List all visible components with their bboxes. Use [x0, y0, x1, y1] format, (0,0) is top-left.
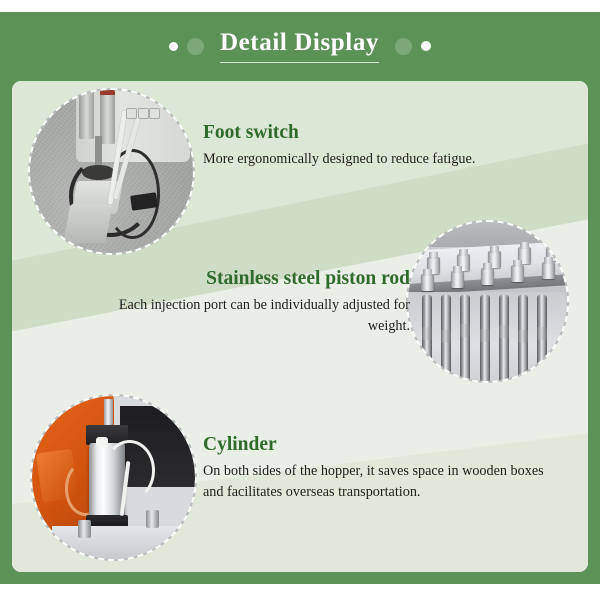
decorative-dot-right-small-icon: [421, 41, 431, 51]
cylinder-photo-inner: [32, 396, 195, 559]
piston-rod-photo-inner: [408, 222, 567, 381]
section-piston-rod-title: Stainless steel piston rod: [80, 268, 410, 290]
section-cylinder-title: Cylinder: [203, 434, 563, 456]
section-cylinder-description: On both sides of the hopper, it saves sp…: [203, 461, 563, 502]
decorative-dot-left-large-icon: [187, 38, 204, 55]
piston-rod-photo: [406, 220, 569, 383]
decorative-dot-left-small-icon: [169, 42, 178, 51]
page-header: Detail Display: [0, 12, 600, 80]
section-foot-switch-description: More ergonomically designed to reduce fa…: [203, 149, 503, 170]
section-piston-rod-text: Stainless steel piston rod Each injectio…: [80, 268, 410, 337]
section-cylinder-text: Cylinder On both sides of the hopper, it…: [203, 434, 563, 503]
section-foot-switch-text: Foot switch More ergonomically designed …: [203, 122, 503, 170]
foot-switch-photo: [28, 88, 195, 255]
foot-switch-photo-inner: [30, 90, 193, 253]
cylinder-photo: [30, 394, 197, 561]
detail-display-page: Detail Display: [0, 0, 600, 600]
header-inner: Detail Display: [169, 29, 431, 63]
decorative-dot-right-large-icon: [395, 38, 412, 55]
section-piston-rod-description: Each injection port can be individually …: [80, 295, 410, 336]
section-foot-switch-title: Foot switch: [203, 122, 503, 144]
page-title: Detail Display: [220, 29, 379, 63]
